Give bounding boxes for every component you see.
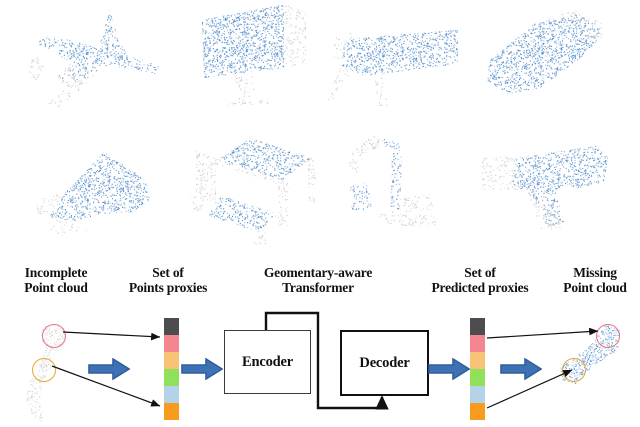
stage-label-line1: Set of (464, 265, 495, 280)
pink-highlight-circle-left (42, 324, 66, 348)
proxy-cell-4 (470, 369, 485, 386)
decoder-label: Decoder (359, 355, 409, 372)
proxy-cell-3 (470, 352, 485, 369)
encoder-box[interactable]: Encoder (224, 330, 311, 394)
stage-label-line2: Point cloud (550, 280, 640, 295)
flow-arrow-1 (88, 358, 130, 385)
point-cloud-faucet (338, 130, 458, 246)
point-cloud-monitor (186, 2, 318, 112)
predicted-proxies-bar (470, 318, 485, 420)
missing-point-cloud-thumb (556, 322, 632, 410)
pink-highlight-circle-right (596, 324, 620, 348)
proxy-cell-4 (164, 369, 179, 386)
orange-highlight-circle-right (562, 358, 586, 382)
point-cloud-gallery (0, 0, 640, 256)
point-cloud-table (182, 132, 322, 248)
stage-label-incomplete-point-cloud: Incomplete Point cloud (0, 265, 112, 295)
encoder-label: Encoder (242, 354, 293, 371)
flow-arrow-4 (500, 358, 542, 385)
stage-label-line1: Missing (573, 265, 617, 280)
stage-label-line2: Points proxies (113, 280, 223, 295)
point-cloud-sofa (22, 138, 168, 246)
points-proxies-bar (164, 318, 179, 420)
decoder-box[interactable]: Decoder (340, 330, 429, 396)
proxy-cell-2 (164, 335, 179, 352)
proxy-cell-1 (164, 318, 179, 335)
stage-label-line2: Point cloud (0, 280, 112, 295)
stage-label-points-proxies: Set of Points proxies (113, 265, 223, 295)
point-cloud-airplane (18, 4, 168, 116)
proxy-cell-5 (164, 386, 179, 403)
stage-label-predicted-proxies: Set of Predicted proxies (412, 265, 548, 295)
stage-label-line1: Set of (152, 265, 183, 280)
flow-arrow-2 (181, 358, 223, 385)
incomplete-point-cloud-thumb (20, 318, 78, 426)
point-cloud-car (478, 8, 618, 110)
pipeline-diagram: Incomplete Point cloud Set of Points pro… (0, 256, 640, 427)
stage-label-line1: Geomentary-aware (264, 265, 372, 280)
stage-label-missing-point-cloud: Missing Point cloud (550, 265, 640, 295)
point-cloud-bench (318, 10, 460, 114)
orange-highlight-circle-left (32, 358, 56, 382)
proxy-cell-1 (470, 318, 485, 335)
flow-arrow-3 (428, 358, 470, 385)
proxy-cell-2 (470, 335, 485, 352)
proxy-cell-5 (470, 386, 485, 403)
point-cloud-pistol (468, 136, 620, 244)
proxy-cell-3 (164, 352, 179, 369)
proxy-cell-6 (470, 403, 485, 420)
figure-canvas: Incomplete Point cloud Set of Points pro… (0, 0, 640, 427)
stage-label-line1: Incomplete (25, 265, 88, 280)
proxy-cell-6 (164, 403, 179, 420)
stage-label-line2: Transformer (243, 280, 393, 295)
stage-label-line2: Predicted proxies (412, 280, 548, 295)
stage-label-geometry-aware-transformer: Geomentary-aware Transformer (243, 265, 393, 295)
